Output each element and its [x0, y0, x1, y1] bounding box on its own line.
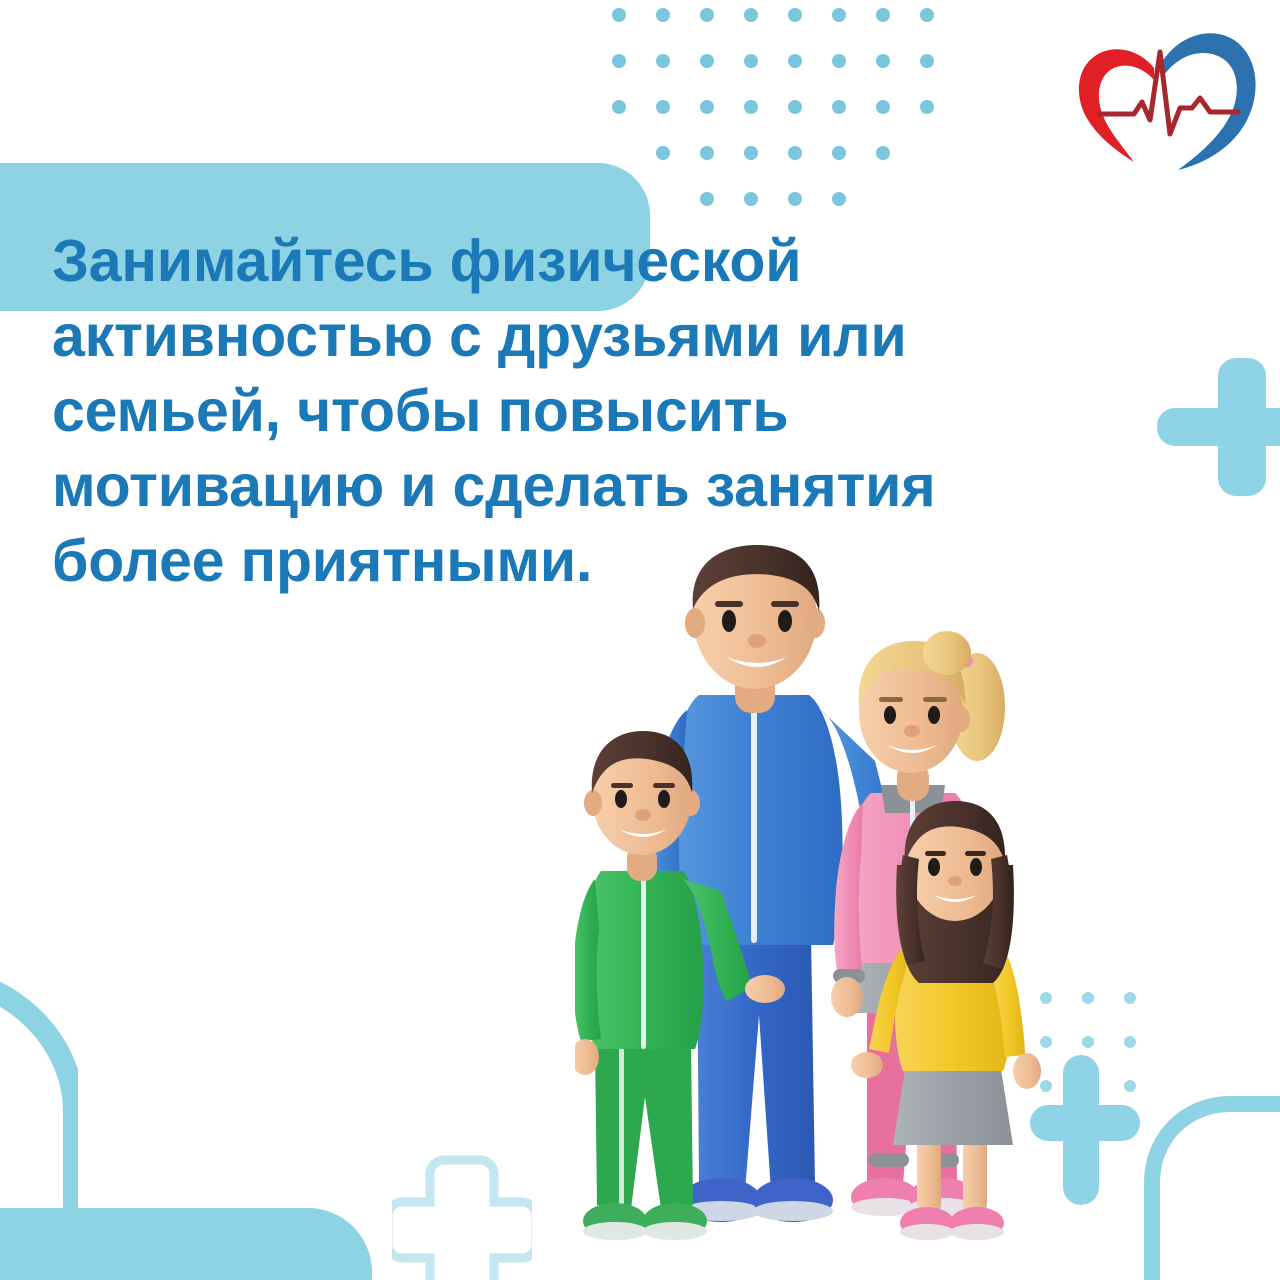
cross-bar-vertical — [1218, 358, 1266, 496]
dot — [656, 8, 670, 22]
dot — [612, 100, 626, 114]
dot — [788, 100, 802, 114]
dot — [788, 192, 802, 206]
dot — [832, 192, 846, 206]
dot — [1124, 992, 1136, 1004]
medical-cross-outline-icon — [392, 1152, 532, 1280]
dot — [744, 100, 758, 114]
dot — [744, 8, 758, 22]
dot — [832, 100, 846, 114]
medical-cross-icon — [1157, 358, 1280, 496]
slab-bottom-left — [0, 1208, 372, 1280]
arc-bottom-left — [0, 962, 78, 1222]
dot — [700, 100, 714, 114]
dot — [656, 100, 670, 114]
dot — [832, 146, 846, 160]
dot — [1124, 1036, 1136, 1048]
dot — [876, 100, 890, 114]
dot — [612, 54, 626, 68]
dot — [788, 146, 802, 160]
poster-canvas: Занимайтесь физической активностью с дру… — [0, 0, 1280, 1280]
dot — [876, 8, 890, 22]
dot — [788, 8, 802, 22]
arc-bottom-right — [1090, 1090, 1280, 1280]
dot — [876, 54, 890, 68]
page-title: Занимайтесь физической активностью с дру… — [52, 224, 1012, 599]
dot — [920, 54, 934, 68]
dot — [744, 192, 758, 206]
dot — [656, 146, 670, 160]
dot — [700, 146, 714, 160]
dot — [700, 8, 714, 22]
family-illustration — [575, 545, 1065, 1275]
dot — [1082, 1036, 1094, 1048]
heart-ecg-logo — [1062, 22, 1262, 170]
dot — [788, 54, 802, 68]
dot — [656, 54, 670, 68]
dot — [832, 8, 846, 22]
dot — [744, 54, 758, 68]
dot — [920, 8, 934, 22]
dot — [920, 100, 934, 114]
dot — [832, 54, 846, 68]
dot — [1082, 992, 1094, 1004]
dot — [700, 54, 714, 68]
dot — [612, 8, 626, 22]
dot — [876, 146, 890, 160]
dot — [700, 192, 714, 206]
dot — [744, 146, 758, 160]
dot-grid-top — [612, 8, 932, 208]
